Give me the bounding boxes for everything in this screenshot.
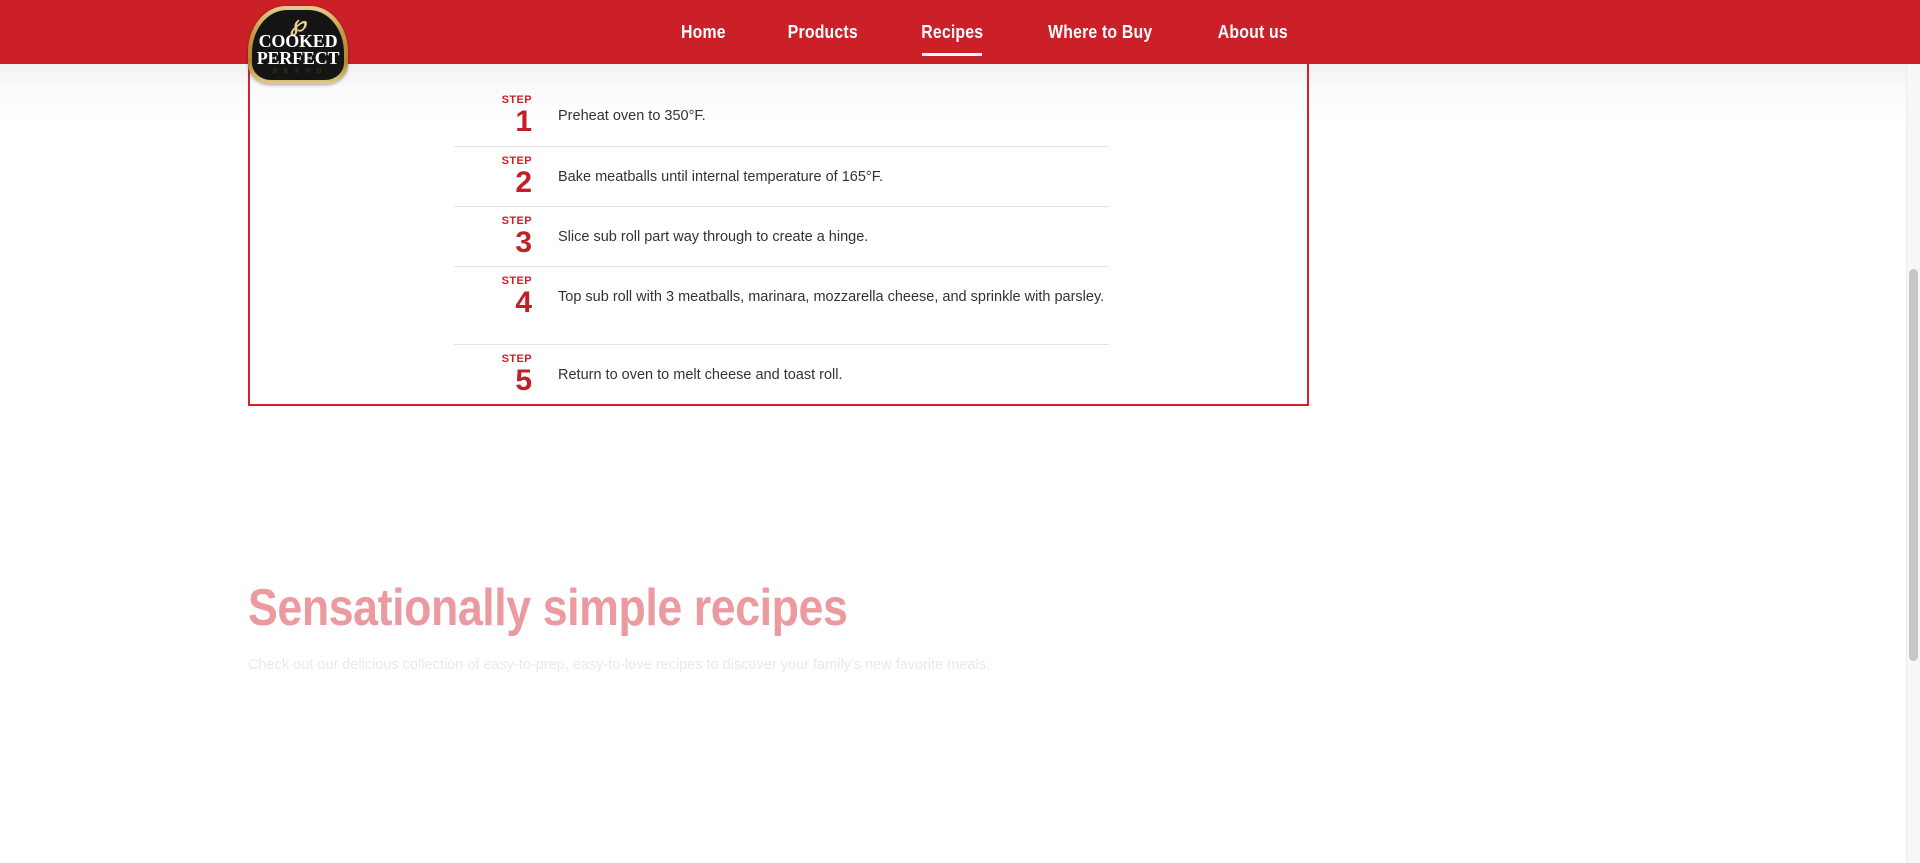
- nav-item-where-to-buy[interactable]: Where to Buy: [1014, 0, 1186, 64]
- nav-item-products[interactable]: Products: [756, 0, 890, 64]
- step-number: 3: [454, 228, 532, 258]
- main-navigation: Home Products Recipes Where to Buy About…: [651, 0, 1920, 64]
- step-number: 4: [454, 288, 532, 318]
- step-instruction-text: Bake meatballs until internal temperatur…: [532, 147, 1109, 201]
- recipe-step-row: STEP 5 Return to oven to melt cheese and…: [454, 344, 1109, 404]
- step-number: 5: [454, 366, 532, 396]
- recipe-step-row: STEP 1 Preheat oven to 350°F.: [454, 86, 1109, 146]
- page-subtitle: Check out our delicious collection of ea…: [248, 655, 1348, 675]
- step-instruction-text: Slice sub roll part way through to creat…: [532, 207, 1109, 261]
- site-logo[interactable]: ℘ COOKED PERFECT · B R A N D ·: [248, 6, 348, 84]
- step-number-column: STEP 1: [454, 86, 532, 137]
- vertical-scrollbar-thumb[interactable]: [1909, 269, 1918, 661]
- logo-text-brand: · B R A N D ·: [248, 67, 348, 75]
- nav-item-home[interactable]: Home: [651, 0, 756, 64]
- recipes-promo-section: Sensationally simple recipes Check out o…: [248, 577, 1348, 675]
- logo-text-perfect: PERFECT: [252, 49, 344, 68]
- step-number-column: STEP 4: [454, 267, 532, 318]
- recipe-step-row: STEP 3 Slice sub roll part way through t…: [454, 206, 1109, 266]
- step-number: 1: [454, 107, 532, 137]
- nav-item-about-us[interactable]: About us: [1186, 0, 1320, 64]
- nav-link-about-us[interactable]: About us: [1218, 22, 1288, 43]
- nav-link-home[interactable]: Home: [681, 22, 726, 43]
- step-number-column: STEP 2: [454, 147, 532, 198]
- recipe-steps-list: STEP 1 Preheat oven to 350°F. STEP 2 Bak…: [454, 86, 1109, 404]
- step-instruction-text: Top sub roll with 3 meatballs, marinara,…: [532, 267, 1109, 321]
- step-number-column: STEP 3: [454, 207, 532, 258]
- page-title: Sensationally simple recipes: [248, 577, 1194, 639]
- step-instruction-text: Preheat oven to 350°F.: [532, 86, 1109, 140]
- nav-item-recipes[interactable]: Recipes: [890, 0, 1014, 64]
- page-root: STEP 1 Preheat oven to 350°F. STEP 2 Bak…: [0, 0, 1920, 863]
- recipe-step-row: STEP 2 Bake meatballs until internal tem…: [454, 146, 1109, 206]
- step-number: 2: [454, 168, 532, 198]
- vertical-scrollbar-track[interactable]: [1906, 64, 1920, 863]
- step-instruction-text: Return to oven to melt cheese and toast …: [532, 345, 1109, 399]
- nav-list: Home Products Recipes Where to Buy About…: [651, 0, 1320, 64]
- nav-link-where-to-buy[interactable]: Where to Buy: [1048, 22, 1152, 43]
- cooked-perfect-shield-icon: ℘ COOKED PERFECT · B R A N D ·: [248, 6, 348, 84]
- step-number-column: STEP 5: [454, 345, 532, 396]
- nav-link-recipes[interactable]: Recipes: [921, 22, 983, 43]
- nav-link-products[interactable]: Products: [788, 22, 858, 43]
- recipe-step-row: STEP 4 Top sub roll with 3 meatballs, ma…: [454, 266, 1109, 344]
